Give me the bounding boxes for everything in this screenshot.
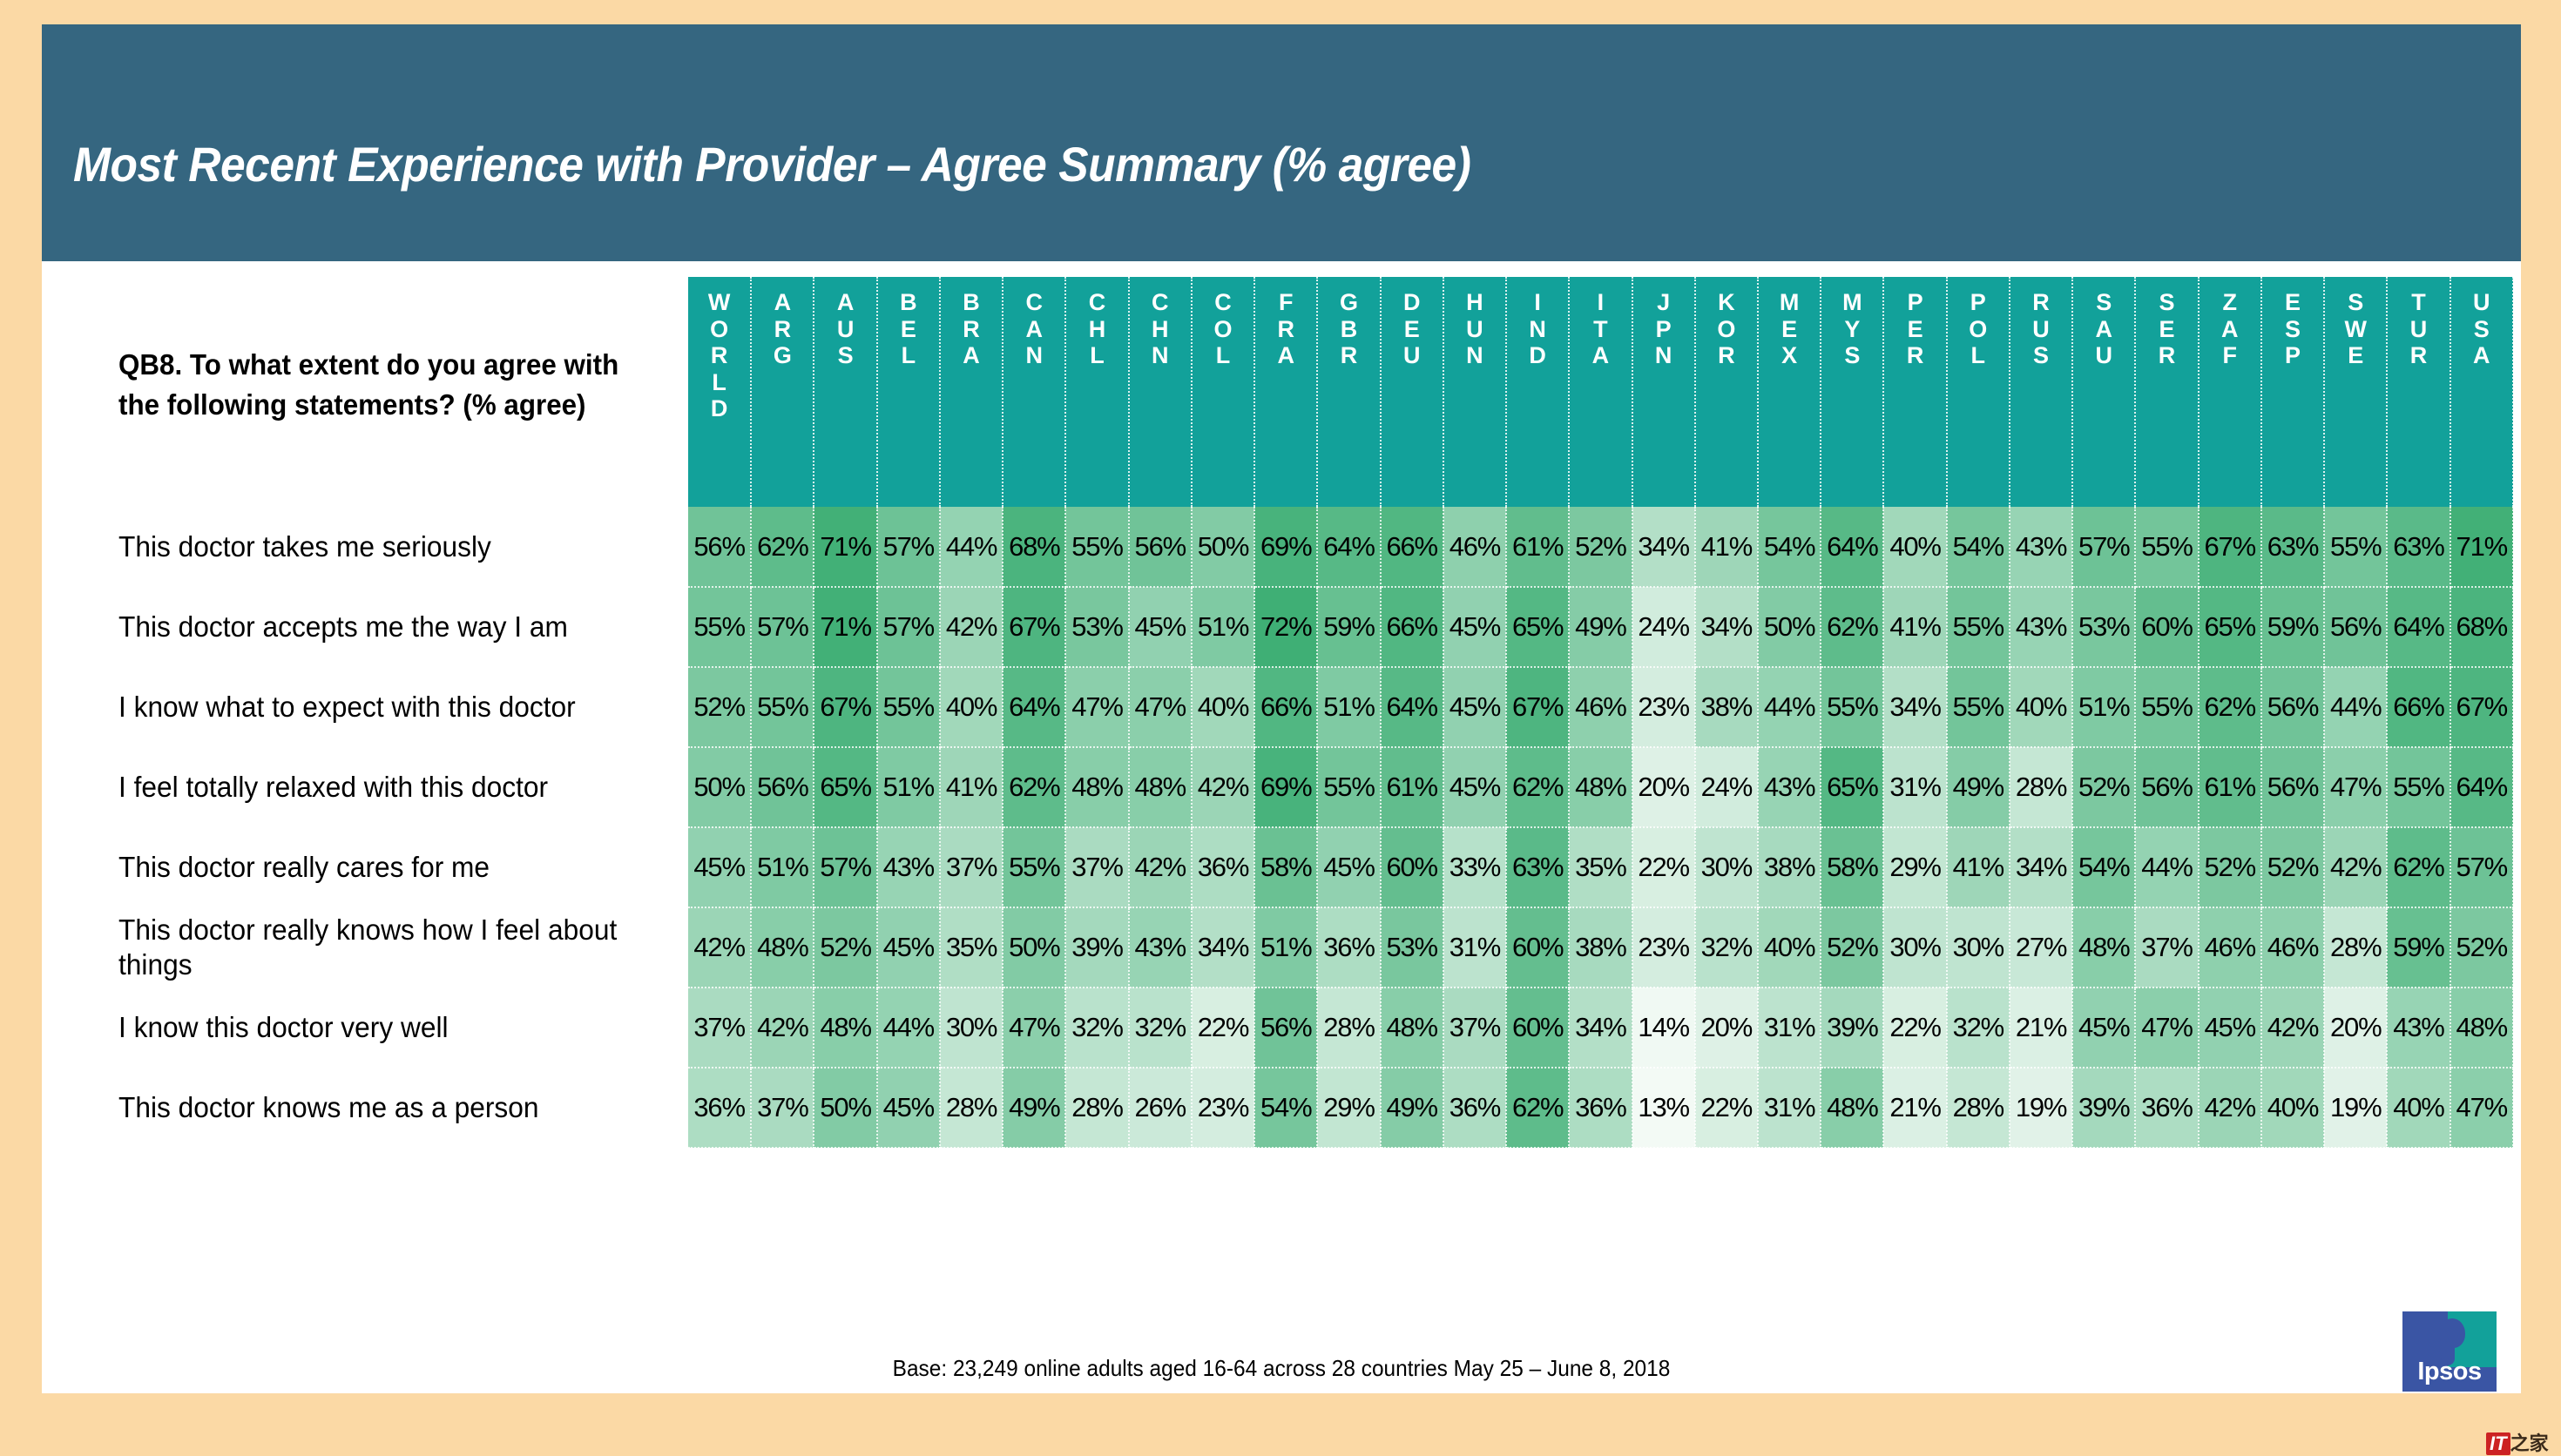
- heat-cell: 67%: [2199, 507, 2261, 587]
- column-header-sau: SAU: [2072, 277, 2135, 507]
- heat-cell: 48%: [751, 907, 814, 988]
- heat-cell: 56%: [2135, 747, 2198, 827]
- heat-cell: 42%: [2324, 827, 2387, 907]
- heat-cell: 30%: [1947, 907, 2010, 988]
- heatmap-table-wrap: WORLDARGAUSBELBRACANCHLCHNCOLFRAGBRDEUHU…: [688, 277, 2514, 1149]
- heat-cell: 71%: [2450, 507, 2513, 587]
- column-header-ita: ITA: [1569, 277, 1632, 507]
- heat-cell: 51%: [1317, 667, 1380, 747]
- heatmap-body: 56%62%71%57%44%68%55%56%50%69%64%66%46%6…: [688, 507, 2513, 1148]
- heat-cell: 40%: [2010, 667, 2072, 747]
- heat-cell: 69%: [1254, 747, 1317, 827]
- heat-cell: 36%: [1569, 1068, 1632, 1148]
- heat-cell: 41%: [1883, 587, 1946, 667]
- heat-cell: 52%: [688, 667, 751, 747]
- heat-cell: 49%: [1381, 1068, 1443, 1148]
- heat-cell: 32%: [1129, 988, 1192, 1068]
- heat-cell: 45%: [2072, 988, 2135, 1068]
- heat-cell: 69%: [1254, 507, 1317, 587]
- heat-cell: 36%: [1192, 827, 1254, 907]
- heat-cell: 59%: [1317, 587, 1380, 667]
- heat-cell: 54%: [2072, 827, 2135, 907]
- heat-cell: 46%: [1569, 667, 1632, 747]
- heat-cell: 51%: [2072, 667, 2135, 747]
- heat-cell: 24%: [1695, 747, 1758, 827]
- heat-cell: 50%: [1758, 587, 1821, 667]
- column-header-can: CAN: [1003, 277, 1065, 507]
- heat-cell: 55%: [1003, 827, 1065, 907]
- column-header-chl: CHL: [1065, 277, 1128, 507]
- heat-cell: 14%: [1632, 988, 1695, 1068]
- heat-cell: 64%: [1003, 667, 1065, 747]
- row-label: I know this doctor very well: [118, 988, 662, 1068]
- heat-cell: 37%: [2135, 907, 2198, 988]
- heat-cell: 42%: [688, 907, 751, 988]
- heat-cell: 29%: [1883, 827, 1946, 907]
- heat-cell: 62%: [751, 507, 814, 587]
- heat-cell: 53%: [1381, 907, 1443, 988]
- row-label: I know what to expect with this doctor: [118, 667, 662, 747]
- heat-cell: 48%: [1065, 747, 1128, 827]
- column-header-kor: KOR: [1695, 277, 1758, 507]
- heat-cell: 45%: [877, 1068, 940, 1148]
- heat-cell: 40%: [1883, 507, 1946, 587]
- heat-cell: 40%: [1758, 907, 1821, 988]
- heat-cell: 59%: [2261, 587, 2324, 667]
- heat-cell: 38%: [1695, 667, 1758, 747]
- heat-cell: 40%: [2261, 1068, 2324, 1148]
- heat-cell: 44%: [2324, 667, 2387, 747]
- heat-cell: 47%: [2450, 1068, 2513, 1148]
- heat-cell: 43%: [1758, 747, 1821, 827]
- heat-cell: 67%: [814, 667, 876, 747]
- heat-cell: 55%: [2324, 507, 2387, 587]
- column-header-zaf: ZAF: [2199, 277, 2261, 507]
- heat-cell: 56%: [1254, 988, 1317, 1068]
- heat-cell: 52%: [2199, 827, 2261, 907]
- column-header-arg: ARG: [751, 277, 814, 507]
- watermark-it-badge: IT: [2486, 1432, 2510, 1455]
- heat-cell: 52%: [2072, 747, 2135, 827]
- heat-cell: 31%: [1758, 1068, 1821, 1148]
- heat-cell: 65%: [1506, 587, 1569, 667]
- heat-cell: 55%: [1947, 667, 2010, 747]
- heat-cell: 52%: [814, 907, 876, 988]
- heat-cell: 67%: [2450, 667, 2513, 747]
- heat-cell: 47%: [1003, 988, 1065, 1068]
- heat-cell: 48%: [2072, 907, 2135, 988]
- heat-cell: 37%: [940, 827, 1003, 907]
- row-label: This doctor really knows how I feel abou…: [118, 907, 662, 988]
- heat-cell: 56%: [2261, 667, 2324, 747]
- heat-cell: 56%: [751, 747, 814, 827]
- heat-cell: 34%: [1569, 988, 1632, 1068]
- heat-cell: 64%: [2387, 587, 2450, 667]
- heat-cell: 47%: [2135, 988, 2198, 1068]
- heat-cell: 61%: [1506, 507, 1569, 587]
- heat-cell: 36%: [2135, 1068, 2198, 1148]
- heat-cell: 60%: [1506, 907, 1569, 988]
- heat-cell: 35%: [940, 907, 1003, 988]
- row-label: This doctor accepts me the way I am: [118, 587, 662, 667]
- heat-cell: 52%: [2261, 827, 2324, 907]
- heat-cell: 35%: [1569, 827, 1632, 907]
- heat-cell: 54%: [1254, 1068, 1317, 1148]
- heat-cell: 47%: [1129, 667, 1192, 747]
- heat-cell: 52%: [1569, 507, 1632, 587]
- heat-cell: 66%: [1381, 507, 1443, 587]
- row-label: This doctor takes me seriously: [118, 507, 662, 587]
- heat-cell: 20%: [1632, 747, 1695, 827]
- heat-cell: 30%: [1883, 907, 1946, 988]
- heat-cell: 47%: [1065, 667, 1128, 747]
- table-row: 36%37%50%45%28%49%28%26%23%54%29%49%36%6…: [688, 1068, 2513, 1148]
- heat-cell: 67%: [1003, 587, 1065, 667]
- row-label: This doctor really cares for me: [118, 827, 662, 907]
- heat-cell: 55%: [1821, 667, 1883, 747]
- table-row: 52%55%67%55%40%64%47%47%40%66%51%64%45%6…: [688, 667, 2513, 747]
- watermark: IT之家: [2486, 1428, 2549, 1456]
- heat-cell: 42%: [1129, 827, 1192, 907]
- heat-cell: 55%: [688, 587, 751, 667]
- heat-cell: 66%: [2387, 667, 2450, 747]
- heat-cell: 64%: [2450, 747, 2513, 827]
- heat-cell: 65%: [2199, 587, 2261, 667]
- column-header-swe: SWE: [2324, 277, 2387, 507]
- heat-cell: 22%: [1883, 988, 1946, 1068]
- heat-cell: 41%: [1695, 507, 1758, 587]
- heat-cell: 24%: [1632, 587, 1695, 667]
- column-header-fra: FRA: [1254, 277, 1317, 507]
- heat-cell: 58%: [1821, 827, 1883, 907]
- heat-cell: 46%: [2199, 907, 2261, 988]
- heat-cell: 55%: [1065, 507, 1128, 587]
- heat-cell: 62%: [2387, 827, 2450, 907]
- heat-cell: 42%: [2199, 1068, 2261, 1148]
- heat-cell: 48%: [1381, 988, 1443, 1068]
- heat-cell: 39%: [1065, 907, 1128, 988]
- heat-cell: 52%: [2450, 907, 2513, 988]
- heat-cell: 34%: [1192, 907, 1254, 988]
- heat-cell: 23%: [1632, 907, 1695, 988]
- table-row: 45%51%57%43%37%55%37%42%36%58%45%60%33%6…: [688, 827, 2513, 907]
- heat-cell: 62%: [1506, 1068, 1569, 1148]
- heat-cell: 32%: [1947, 988, 2010, 1068]
- heat-cell: 48%: [1569, 747, 1632, 827]
- heat-cell: 38%: [1569, 907, 1632, 988]
- heat-cell: 57%: [2072, 507, 2135, 587]
- heat-cell: 56%: [2261, 747, 2324, 827]
- heat-cell: 44%: [1758, 667, 1821, 747]
- heat-cell: 55%: [2135, 667, 2198, 747]
- heat-cell: 27%: [2010, 907, 2072, 988]
- heat-cell: 63%: [2261, 507, 2324, 587]
- heat-cell: 28%: [940, 1068, 1003, 1148]
- heat-cell: 53%: [1065, 587, 1128, 667]
- heat-cell: 39%: [1821, 988, 1883, 1068]
- heat-cell: 60%: [1506, 988, 1569, 1068]
- heat-cell: 44%: [940, 507, 1003, 587]
- heat-cell: 34%: [1883, 667, 1946, 747]
- heat-cell: 20%: [2324, 988, 2387, 1068]
- heat-cell: 49%: [1569, 587, 1632, 667]
- column-header-bra: BRA: [940, 277, 1003, 507]
- heat-cell: 40%: [940, 667, 1003, 747]
- heat-cell: 48%: [814, 988, 876, 1068]
- heat-cell: 45%: [1443, 587, 1506, 667]
- column-header-tur: TUR: [2387, 277, 2450, 507]
- heat-cell: 39%: [2072, 1068, 2135, 1148]
- heat-cell: 28%: [2324, 907, 2387, 988]
- column-header-chn: CHN: [1129, 277, 1192, 507]
- heat-cell: 36%: [1317, 907, 1380, 988]
- heat-cell: 23%: [1632, 667, 1695, 747]
- slide-canvas: Most Recent Experience with Provider – A…: [42, 24, 2521, 1393]
- heat-cell: 66%: [1381, 587, 1443, 667]
- heat-cell: 45%: [877, 907, 940, 988]
- heat-cell: 53%: [2072, 587, 2135, 667]
- heat-cell: 65%: [1821, 747, 1883, 827]
- heat-cell: 22%: [1632, 827, 1695, 907]
- heat-cell: 57%: [877, 507, 940, 587]
- heat-cell: 56%: [2324, 587, 2387, 667]
- heat-cell: 55%: [2135, 507, 2198, 587]
- heat-cell: 55%: [751, 667, 814, 747]
- heat-cell: 54%: [1947, 507, 2010, 587]
- watermark-cn-text: 之家: [2510, 1432, 2549, 1454]
- heat-cell: 44%: [2135, 827, 2198, 907]
- logo-wordmark: Ipsos: [2402, 1358, 2497, 1386]
- heat-cell: 30%: [940, 988, 1003, 1068]
- heat-cell: 49%: [1003, 1068, 1065, 1148]
- heat-cell: 37%: [1065, 827, 1128, 907]
- heat-cell: 51%: [1254, 907, 1317, 988]
- row-label: I feel totally relaxed with this doctor: [118, 747, 662, 827]
- heat-cell: 37%: [688, 988, 751, 1068]
- heat-cell: 19%: [2324, 1068, 2387, 1148]
- heat-cell: 31%: [1443, 907, 1506, 988]
- heat-cell: 51%: [751, 827, 814, 907]
- column-header-bel: BEL: [877, 277, 940, 507]
- heat-cell: 42%: [940, 587, 1003, 667]
- heat-cell: 52%: [1821, 907, 1883, 988]
- heat-cell: 45%: [2199, 988, 2261, 1068]
- column-header-esp: ESP: [2261, 277, 2324, 507]
- heat-cell: 64%: [1317, 507, 1380, 587]
- heatmap-header-row: WORLDARGAUSBELBRACANCHLCHNCOLFRAGBRDEUHU…: [688, 277, 2513, 507]
- heat-cell: 23%: [1192, 1068, 1254, 1148]
- heat-cell: 34%: [1695, 587, 1758, 667]
- heat-cell: 43%: [2387, 988, 2450, 1068]
- heat-cell: 26%: [1129, 1068, 1192, 1148]
- heat-cell: 57%: [877, 587, 940, 667]
- column-header-hun: HUN: [1443, 277, 1506, 507]
- heat-cell: 40%: [2387, 1068, 2450, 1148]
- heat-cell: 36%: [688, 1068, 751, 1148]
- column-header-jpn: JPN: [1632, 277, 1695, 507]
- heat-cell: 48%: [2450, 988, 2513, 1068]
- column-header-rus: RUS: [2010, 277, 2072, 507]
- heat-cell: 47%: [2324, 747, 2387, 827]
- heat-cell: 22%: [1192, 988, 1254, 1068]
- heat-cell: 67%: [1506, 667, 1569, 747]
- heat-cell: 61%: [2199, 747, 2261, 827]
- table-row: 55%57%71%57%42%67%53%45%51%72%59%66%45%6…: [688, 587, 2513, 667]
- column-header-mex: MEX: [1758, 277, 1821, 507]
- heat-cell: 65%: [814, 747, 876, 827]
- row-label: This doctor knows me as a person: [118, 1068, 662, 1148]
- column-header-ind: IND: [1506, 277, 1569, 507]
- heat-cell: 43%: [1129, 907, 1192, 988]
- table-row: 50%56%65%51%41%62%48%48%42%69%55%61%45%6…: [688, 747, 2513, 827]
- heat-cell: 56%: [688, 507, 751, 587]
- heat-cell: 62%: [1506, 747, 1569, 827]
- heat-cell: 36%: [1443, 1068, 1506, 1148]
- heat-cell: 68%: [1003, 507, 1065, 587]
- heat-cell: 31%: [1758, 988, 1821, 1068]
- heat-cell: 60%: [2135, 587, 2198, 667]
- heat-cell: 45%: [1129, 587, 1192, 667]
- table-row: 56%62%71%57%44%68%55%56%50%69%64%66%46%6…: [688, 507, 2513, 587]
- heat-cell: 57%: [2450, 827, 2513, 907]
- column-header-mys: MYS: [1821, 277, 1883, 507]
- heat-cell: 30%: [1695, 827, 1758, 907]
- column-header-col: COL: [1192, 277, 1254, 507]
- heat-cell: 34%: [1632, 507, 1695, 587]
- heat-cell: 41%: [1947, 827, 2010, 907]
- heat-cell: 45%: [1317, 827, 1380, 907]
- heat-cell: 42%: [1192, 747, 1254, 827]
- heat-cell: 43%: [2010, 587, 2072, 667]
- column-header-ser: SER: [2135, 277, 2198, 507]
- heat-cell: 46%: [1443, 507, 1506, 587]
- column-header-per: PER: [1883, 277, 1946, 507]
- heat-cell: 43%: [2010, 507, 2072, 587]
- heat-cell: 62%: [2199, 667, 2261, 747]
- table-row: 37%42%48%44%30%47%32%32%22%56%28%48%37%6…: [688, 988, 2513, 1068]
- question-prompt: QB8. To what extent do you agree with th…: [118, 345, 665, 424]
- heat-cell: 71%: [814, 587, 876, 667]
- heat-cell: 13%: [1632, 1068, 1695, 1148]
- ipsos-logo: Ipsos: [2402, 1311, 2497, 1392]
- heat-cell: 28%: [1065, 1068, 1128, 1148]
- heat-cell: 28%: [1317, 988, 1380, 1068]
- heat-cell: 63%: [1506, 827, 1569, 907]
- column-header-usa: USA: [2450, 277, 2513, 507]
- heat-cell: 54%: [1758, 507, 1821, 587]
- heat-cell: 21%: [1883, 1068, 1946, 1148]
- heat-cell: 46%: [2261, 907, 2324, 988]
- heat-cell: 38%: [1758, 827, 1821, 907]
- heat-cell: 63%: [2387, 507, 2450, 587]
- column-header-gbr: GBR: [1317, 277, 1380, 507]
- heat-cell: 62%: [1821, 587, 1883, 667]
- page-title: Most Recent Experience with Provider – A…: [73, 136, 1470, 192]
- heat-cell: 37%: [1443, 988, 1506, 1068]
- column-header-aus: AUS: [814, 277, 876, 507]
- heat-cell: 55%: [2387, 747, 2450, 827]
- heat-cell: 44%: [877, 988, 940, 1068]
- heat-cell: 62%: [1003, 747, 1065, 827]
- footer-base-note: Base: 23,249 online adults aged 16-64 ac…: [116, 1355, 2446, 1382]
- heat-cell: 32%: [1695, 907, 1758, 988]
- heat-cell: 28%: [2010, 747, 2072, 827]
- heat-cell: 72%: [1254, 587, 1317, 667]
- heat-cell: 57%: [751, 587, 814, 667]
- heat-cell: 43%: [877, 827, 940, 907]
- heat-cell: 48%: [1129, 747, 1192, 827]
- heat-cell: 55%: [1947, 587, 2010, 667]
- heat-cell: 64%: [1821, 507, 1883, 587]
- heat-cell: 51%: [877, 747, 940, 827]
- heat-cell: 34%: [2010, 827, 2072, 907]
- heatmap-header: WORLDARGAUSBELBRACANCHLCHNCOLFRAGBRDEUHU…: [688, 277, 2513, 507]
- heat-cell: 32%: [1065, 988, 1128, 1068]
- heat-cell: 50%: [814, 1068, 876, 1148]
- heat-cell: 51%: [1192, 587, 1254, 667]
- heat-cell: 20%: [1695, 988, 1758, 1068]
- heat-cell: 49%: [1947, 747, 2010, 827]
- heat-cell: 50%: [1003, 907, 1065, 988]
- heat-cell: 40%: [1192, 667, 1254, 747]
- heat-cell: 50%: [688, 747, 751, 827]
- heat-cell: 48%: [1821, 1068, 1883, 1148]
- heat-cell: 58%: [1254, 827, 1317, 907]
- heat-cell: 68%: [2450, 587, 2513, 667]
- heat-cell: 57%: [814, 827, 876, 907]
- heat-cell: 42%: [751, 988, 814, 1068]
- heat-cell: 28%: [1947, 1068, 2010, 1148]
- heat-cell: 29%: [1317, 1068, 1380, 1148]
- heat-cell: 64%: [1381, 667, 1443, 747]
- column-header-pol: POL: [1947, 277, 2010, 507]
- column-header-deu: DEU: [1381, 277, 1443, 507]
- heat-cell: 31%: [1883, 747, 1946, 827]
- row-label-list: This doctor takes me seriouslyThis docto…: [118, 507, 685, 1148]
- heatmap-table: WORLDARGAUSBELBRACANCHLCHNCOLFRAGBRDEUHU…: [688, 277, 2514, 1149]
- heat-cell: 19%: [2010, 1068, 2072, 1148]
- heat-cell: 45%: [688, 827, 751, 907]
- column-header-world: WORLD: [688, 277, 751, 507]
- heat-cell: 42%: [2261, 988, 2324, 1068]
- heat-cell: 37%: [751, 1068, 814, 1148]
- heat-cell: 50%: [1192, 507, 1254, 587]
- heat-cell: 66%: [1254, 667, 1317, 747]
- heat-cell: 55%: [877, 667, 940, 747]
- heat-cell: 55%: [1317, 747, 1380, 827]
- heat-cell: 21%: [2010, 988, 2072, 1068]
- heat-cell: 61%: [1381, 747, 1443, 827]
- heat-cell: 45%: [1443, 747, 1506, 827]
- heat-cell: 33%: [1443, 827, 1506, 907]
- heat-cell: 45%: [1443, 667, 1506, 747]
- heat-cell: 71%: [814, 507, 876, 587]
- table-row: 42%48%52%45%35%50%39%43%34%51%36%53%31%6…: [688, 907, 2513, 988]
- heat-cell: 41%: [940, 747, 1003, 827]
- heat-cell: 22%: [1695, 1068, 1758, 1148]
- heat-cell: 59%: [2387, 907, 2450, 988]
- heat-cell: 56%: [1129, 507, 1192, 587]
- heat-cell: 60%: [1381, 827, 1443, 907]
- title-bar: Most Recent Experience with Provider – A…: [42, 24, 2521, 261]
